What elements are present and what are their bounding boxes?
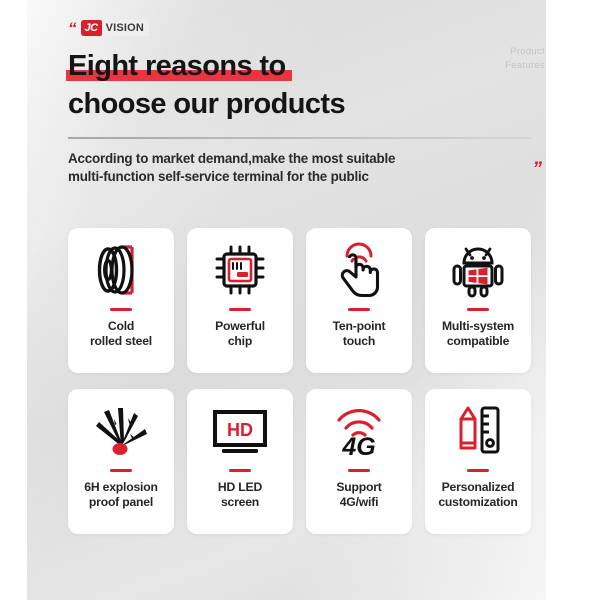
feature-label: Cold rolled steel	[86, 319, 156, 349]
subtitle-line-2: multi-function self-service terminal for…	[68, 168, 488, 186]
feature-label: Powerful chip	[211, 319, 269, 349]
steel-coil-icon	[92, 234, 150, 306]
headline-line-2: choose our products	[68, 86, 345, 122]
card-divider	[110, 308, 132, 311]
subtitle-quote-icon: ”	[533, 160, 542, 179]
feature-card[interactable]: 6H explosion proof panel	[68, 389, 174, 534]
feature-card[interactable]: Ten-point touch	[306, 228, 412, 373]
label-line-1: Support	[336, 480, 381, 494]
subtitle: According to market demand,make the most…	[68, 150, 488, 186]
label-line-1: Ten-point	[333, 319, 386, 333]
logo-name: VISION	[106, 21, 145, 35]
label-line-2: proof panel	[89, 495, 153, 509]
headline-text-1: Eight reasons to	[68, 50, 286, 82]
card-divider	[467, 469, 489, 472]
card-divider	[348, 308, 370, 311]
feature-card[interactable]: 4G Support 4G/wifi	[306, 389, 412, 534]
hd-icon-text: HD	[227, 420, 253, 440]
label-line-2: 4G/wifi	[340, 495, 379, 509]
wifi-4g-icon: 4G	[330, 395, 388, 467]
feature-card[interactable]: Personalized customization	[425, 389, 531, 534]
android-windows-icon	[450, 234, 506, 306]
card-divider	[467, 308, 489, 311]
brand-logo[interactable]: “ JC VISION	[68, 19, 149, 37]
label-line-2: chip	[228, 334, 252, 348]
card-divider	[229, 469, 251, 472]
feature-label: 6H explosion proof panel	[80, 480, 161, 510]
label-line-1: 6H explosion	[84, 480, 157, 494]
headline-line-1: Eight reasons to	[68, 48, 286, 84]
label-line-1: HD LED	[218, 480, 262, 494]
cpu-chip-icon	[212, 234, 268, 306]
feature-label: Support 4G/wifi	[332, 480, 385, 510]
feature-card[interactable]: Cold rolled steel	[68, 228, 174, 373]
card-divider	[348, 469, 370, 472]
logo-badge: JC VISION	[81, 20, 150, 36]
logo-quote-icon: “	[68, 20, 76, 37]
pencil-ruler-icon	[450, 395, 506, 467]
feature-card[interactable]: Powerful chip	[187, 228, 293, 373]
headline-text-2: choose our products	[68, 88, 345, 120]
page-title: Eight reasons to choose our products	[68, 48, 533, 122]
hd-monitor-icon: HD	[209, 395, 271, 467]
label-line-1: Multi-system	[442, 319, 514, 333]
content-inner: “ JC VISION Product Features Eight reaso…	[68, 0, 533, 600]
label-line-1: Cold	[108, 319, 134, 333]
feature-label: Personalized customization	[434, 480, 521, 510]
subtitle-line-1: According to market demand,make the most…	[68, 150, 488, 168]
label-line-1: Personalized	[442, 480, 515, 494]
card-divider	[229, 308, 251, 311]
label-line-2: compatible	[447, 334, 509, 348]
header-divider	[68, 137, 532, 139]
feature-label: HD LED screen	[214, 480, 266, 510]
feature-label: Multi-system compatible	[438, 319, 518, 349]
fourg-icon-text: 4G	[341, 433, 375, 458]
poster-page: “ JC VISION Product Features Eight reaso…	[0, 0, 600, 600]
label-line-2: rolled steel	[90, 334, 152, 348]
card-divider	[110, 469, 132, 472]
feature-card[interactable]: Multi-system compatible	[425, 228, 531, 373]
label-line-2: customization	[438, 495, 517, 509]
touch-hand-icon	[332, 234, 386, 306]
label-line-2: screen	[221, 495, 259, 509]
label-line-2: touch	[343, 334, 375, 348]
feature-card[interactable]: HD HD LED screen	[187, 389, 293, 534]
logo-mark: JC	[81, 20, 102, 36]
shatter-proof-icon	[90, 395, 152, 467]
feature-grid: Cold rolled steel	[68, 228, 532, 534]
label-line-1: Powerful	[215, 319, 265, 333]
feature-label: Ten-point touch	[329, 319, 390, 349]
